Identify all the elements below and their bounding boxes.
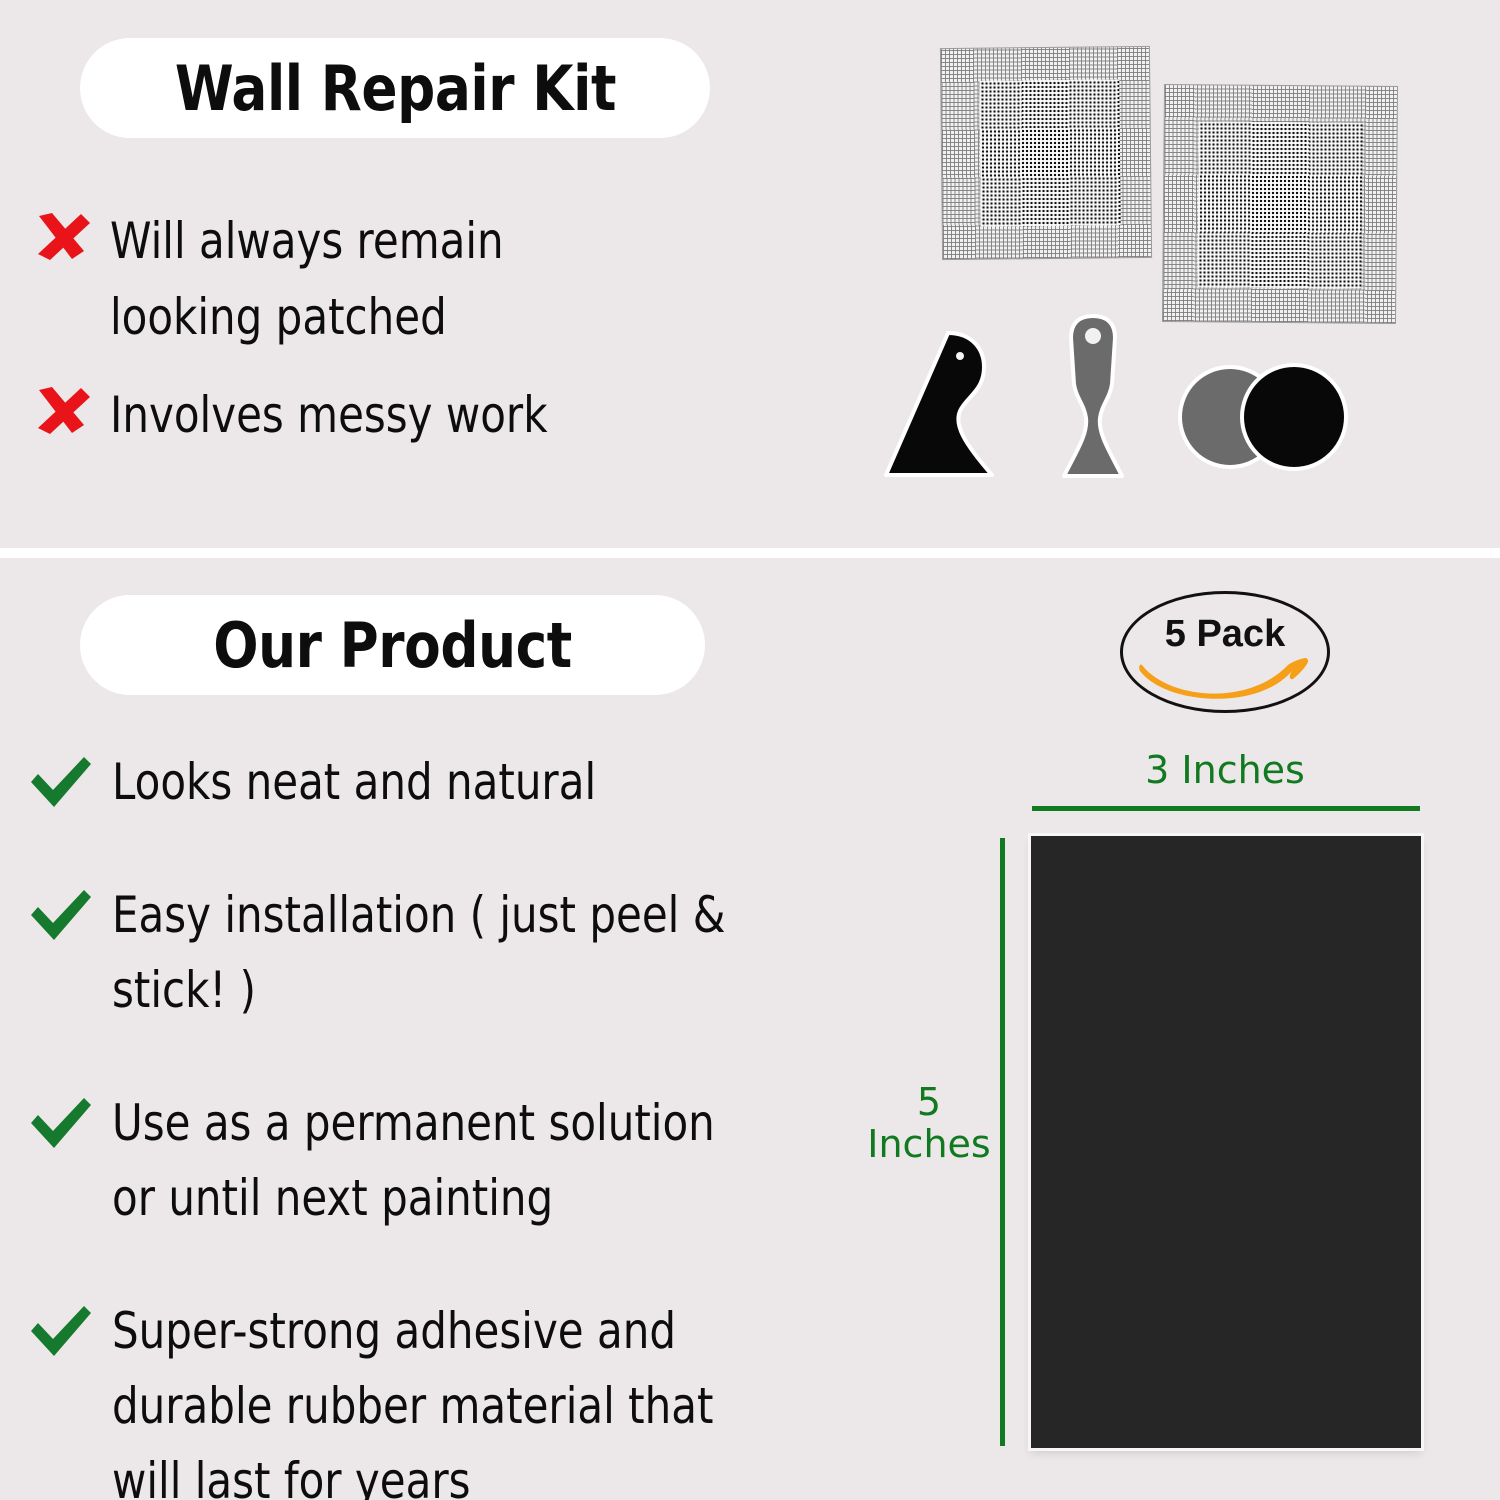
drywall-mesh-patch-icon [941, 47, 1151, 259]
check-mark-icon [28, 1096, 94, 1152]
x-mark-icon [30, 209, 92, 265]
page-title-bottom: Our Product [213, 609, 572, 682]
badge-label: 5 Pack [1120, 613, 1330, 656]
list-item-label: Easy installation ( just peel & stick! ) [112, 878, 764, 1028]
dimension-height-label: 5 Inches [865, 1082, 993, 1166]
sanding-disc-pair-icon [1172, 362, 1352, 472]
drywall-mesh-patch-icon [1163, 85, 1397, 323]
panel-divider [0, 548, 1500, 558]
pack-count-badge: 5 Pack [1120, 591, 1330, 713]
list-item-label: Involves messy work [110, 377, 614, 453]
mesh-patch-core [979, 79, 1121, 226]
bottom-panel-our-product: Our Product Looks neat and natural Easy … [0, 558, 1500, 1500]
putty-knife-tool-icon [1048, 312, 1138, 484]
list-item-label: Looks neat and natural [112, 745, 764, 820]
check-mark-icon [28, 888, 94, 944]
top-panel-wall-repair-kit: Wall Repair Kit Will always remain looki… [0, 0, 1500, 548]
infographic-canvas: Wall Repair Kit Will always remain looki… [0, 0, 1500, 1500]
smoothing-blade-tool-icon [880, 325, 1020, 485]
check-mark-icon [28, 755, 94, 811]
amazon-smile-icon [1138, 655, 1312, 701]
dimension-width-line [1032, 806, 1420, 811]
list-item-label: Super-strong adhesive and durable rubber… [112, 1294, 764, 1500]
list-item-label: Use as a permanent solution or until nex… [112, 1086, 764, 1236]
bottom-panel-title-pill: Our Product [80, 595, 705, 695]
dimension-height-line [1000, 838, 1005, 1446]
list-item: Involves messy work [30, 377, 710, 453]
top-panel-title-pill: Wall Repair Kit [80, 38, 710, 138]
list-item-label: Will always remain looking patched [110, 203, 614, 355]
page-title-top: Wall Repair Kit [174, 52, 615, 125]
x-mark-icon [30, 383, 92, 439]
black-rubber-wall-patch-image [1031, 836, 1421, 1448]
list-item: Will always remain looking patched [30, 203, 710, 355]
check-mark-icon [28, 1304, 94, 1360]
cons-bullet-list: Will always remain looking patched Invol… [30, 203, 710, 475]
list-item: Super-strong adhesive and durable rubber… [28, 1294, 888, 1500]
mesh-patch-core [1197, 121, 1362, 288]
list-item: Use as a permanent solution or until nex… [28, 1086, 888, 1236]
dimension-width-label: 3 Inches [1030, 750, 1420, 792]
list-item: Looks neat and natural [28, 745, 888, 820]
list-item: Easy installation ( just peel & stick! ) [28, 878, 888, 1028]
pros-bullet-list: Looks neat and natural Easy installation… [28, 745, 888, 1500]
